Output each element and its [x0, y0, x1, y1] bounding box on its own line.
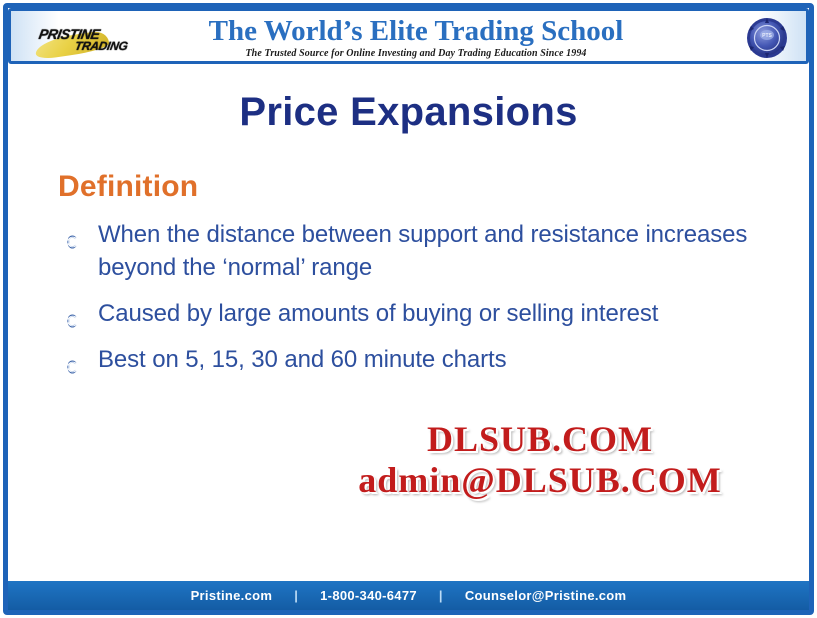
list-item-text: When the distance between support and re…	[98, 221, 747, 281]
pristine-trading-logo: PRISTINE TRADING	[33, 21, 173, 57]
swirl-bullet-icon	[64, 351, 80, 367]
footer-separator: |	[272, 588, 320, 603]
footer-website[interactable]: Pristine.com	[191, 588, 273, 603]
header-text-block: The World’s Elite Trading School The Tru…	[176, 15, 656, 60]
section-heading-definition: Definition	[58, 170, 198, 204]
circular-seal-icon: PTS	[744, 15, 790, 61]
page-title: Price Expansions	[0, 88, 817, 136]
pristine-seal-badge: PTS	[744, 15, 790, 61]
list-item: Best on 5, 15, 30 and 60 minute charts	[62, 343, 752, 376]
header-banner: PRISTINE TRADING The World’s Elite Tradi…	[8, 8, 809, 64]
footer-separator: |	[417, 588, 465, 603]
swirl-bullet-icon	[64, 305, 80, 321]
presentation-slide: PRISTINE TRADING The World’s Elite Tradi…	[0, 0, 817, 618]
logo-word-trading: TRADING	[74, 39, 129, 53]
list-item-text: Caused by large amounts of buying or sel…	[98, 300, 658, 327]
list-item-text: Best on 5, 15, 30 and 60 minute charts	[98, 346, 506, 373]
footer-contact-row: Pristine.com | 1-800-340-6477 | Counselo…	[191, 588, 627, 603]
header-subtitle: The Trusted Source for Online Investing …	[176, 48, 656, 60]
footer-phone[interactable]: 1-800-340-6477	[320, 588, 417, 603]
list-item: When the distance between support and re…	[62, 218, 752, 284]
swirl-bullet-icon	[64, 226, 80, 242]
definition-bullet-list: When the distance between support and re…	[62, 218, 752, 389]
header-title: The World’s Elite Trading School	[176, 15, 656, 47]
footer-email[interactable]: Counselor@Pristine.com	[465, 588, 627, 603]
svg-text:PTS: PTS	[762, 33, 772, 39]
list-item: Caused by large amounts of buying or sel…	[62, 297, 752, 330]
footer-bar: Pristine.com | 1-800-340-6477 | Counselo…	[8, 581, 809, 610]
